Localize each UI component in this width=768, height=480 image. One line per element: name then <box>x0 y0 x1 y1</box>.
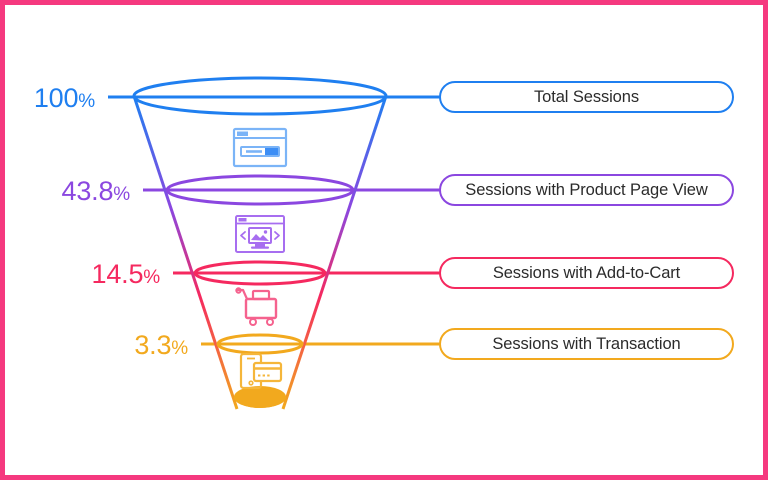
percent-label-total-sessions: 100% <box>34 83 95 114</box>
stage-pill-total-sessions[interactable]: Total Sessions <box>439 81 734 113</box>
funnel-bottom-ellipse <box>234 386 286 408</box>
funnel-graphic <box>5 5 768 480</box>
percent-value-total-sessions: 100 <box>34 83 78 113</box>
mobile-payment-icon <box>241 354 281 388</box>
percent-sign-transaction: % <box>171 338 188 359</box>
percent-value-product-page-view: 43.8 <box>62 176 114 206</box>
funnel-edge-left <box>134 96 237 409</box>
percent-sign-add-to-cart: % <box>143 267 160 288</box>
product-page-icon <box>236 216 284 252</box>
connector-lines <box>108 97 448 344</box>
stage-pill-product-page-view[interactable]: Sessions with Product Page View <box>439 174 734 206</box>
stage-label-total-sessions: Total Sessions <box>534 88 639 107</box>
shopping-cart-icon <box>236 288 276 325</box>
stage-label-transaction: Sessions with Transaction <box>492 335 680 354</box>
percent-sign-product-page-view: % <box>113 184 130 205</box>
funnel-chart-page: 100% 43.8% 14.5% 3.3% Total Sessions Ses… <box>0 0 768 480</box>
percent-label-product-page-view: 43.8% <box>62 176 130 207</box>
percent-value-add-to-cart: 14.5 <box>92 259 144 289</box>
browser-search-icon <box>234 129 286 166</box>
stage-pill-add-to-cart[interactable]: Sessions with Add-to-Cart <box>439 257 734 289</box>
percent-value-transaction: 3.3 <box>134 330 171 360</box>
stage-label-add-to-cart: Sessions with Add-to-Cart <box>493 264 680 283</box>
percent-sign-total-sessions: % <box>78 91 95 112</box>
percent-label-add-to-cart: 14.5% <box>92 259 160 290</box>
stage-label-product-page-view: Sessions with Product Page View <box>465 181 707 200</box>
stage-pill-transaction[interactable]: Sessions with Transaction <box>439 328 734 360</box>
percent-label-transaction: 3.3% <box>134 330 188 361</box>
funnel-edge-right <box>283 96 386 409</box>
